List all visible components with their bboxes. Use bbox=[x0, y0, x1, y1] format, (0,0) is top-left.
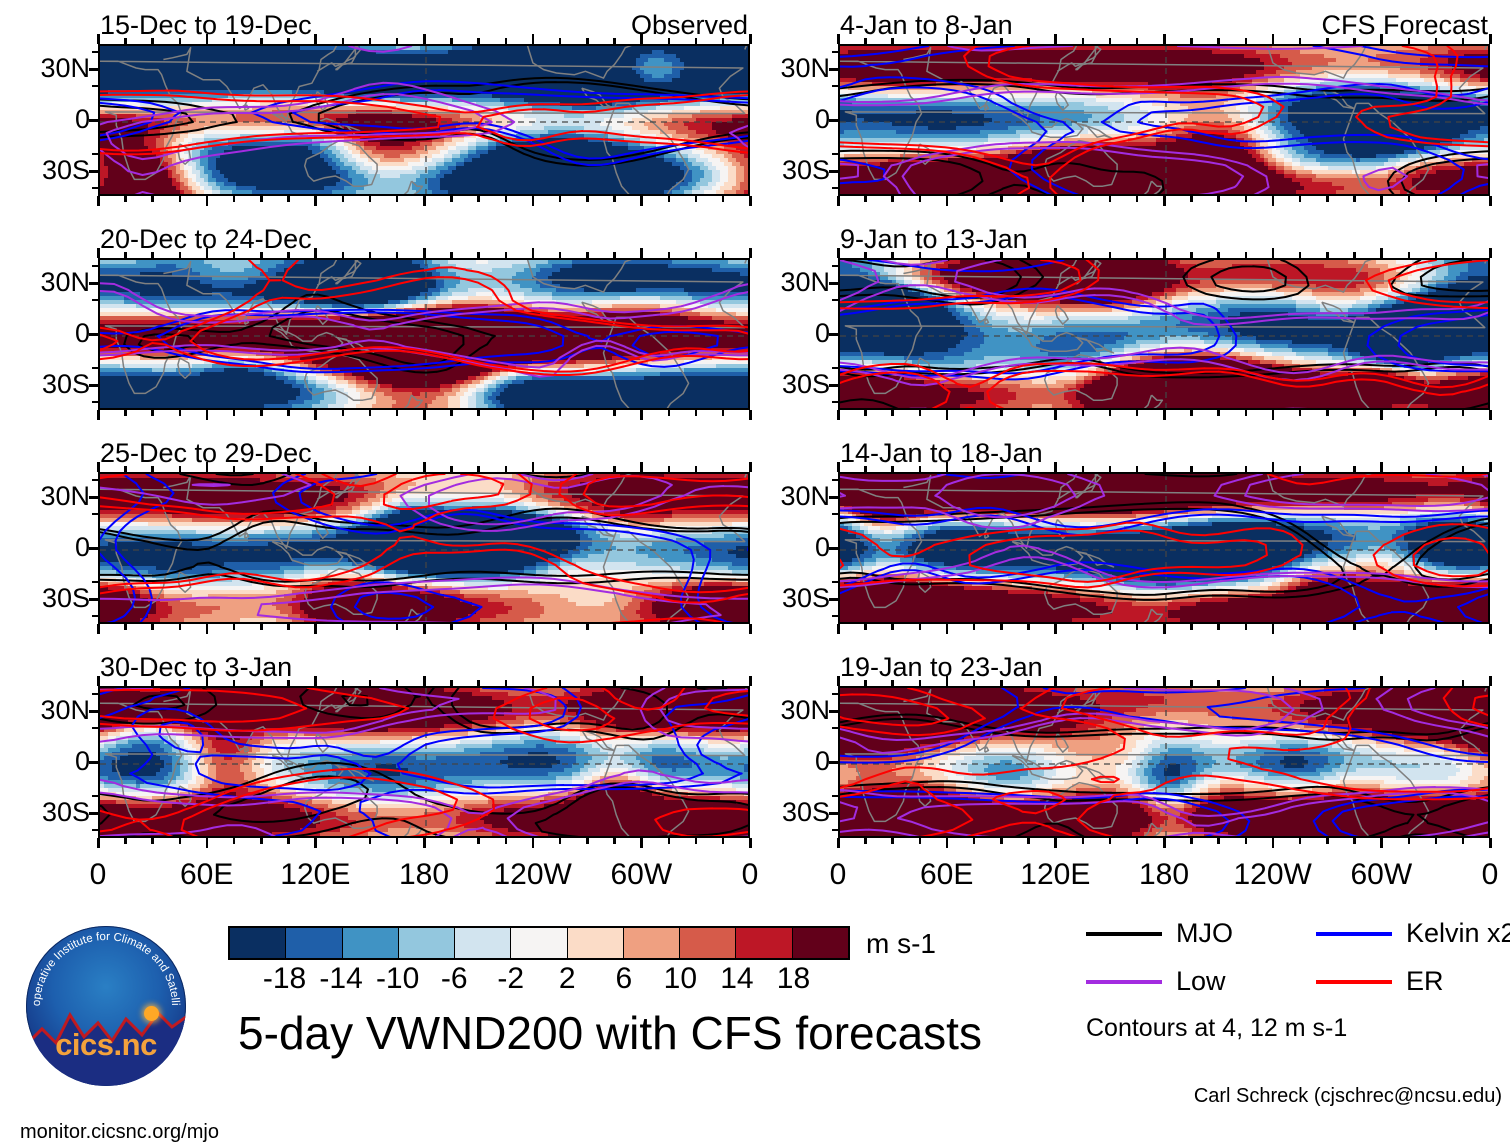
x-axis-tick-mark bbox=[973, 252, 976, 258]
x-axis-tick-mark bbox=[1027, 466, 1030, 472]
x-axis-tick-label: 120W bbox=[493, 860, 571, 890]
x-axis-tick-mark bbox=[640, 196, 643, 206]
x-axis-tick-mark bbox=[206, 676, 209, 686]
x-axis-tick-mark bbox=[260, 38, 263, 44]
x-axis-tick-mark bbox=[1082, 838, 1085, 844]
x-axis-tick-mark bbox=[396, 38, 399, 44]
y-axis-tick-mark bbox=[89, 496, 100, 499]
x-axis-tick-mark bbox=[1435, 624, 1438, 630]
x-axis-tick-mark bbox=[1082, 252, 1085, 258]
y-axis-minor-tick bbox=[92, 795, 99, 797]
x-axis-tick-label: 120W bbox=[1233, 860, 1311, 890]
x-axis-tick-mark bbox=[1163, 410, 1166, 420]
x-axis-tick-mark bbox=[1245, 680, 1248, 686]
x-axis-tick-mark bbox=[505, 624, 508, 630]
x-axis-tick-mark bbox=[477, 838, 480, 844]
x-axis-tick-mark bbox=[1000, 196, 1003, 202]
y-axis-minor-tick bbox=[92, 367, 99, 369]
map-plot-area bbox=[98, 258, 750, 410]
x-axis-tick-mark bbox=[1082, 38, 1085, 44]
y-axis-tick-mark bbox=[829, 68, 840, 71]
legend-label: ER bbox=[1406, 968, 1444, 995]
y-axis-minor-tick bbox=[832, 85, 839, 87]
x-axis-tick-mark bbox=[695, 38, 698, 44]
map-plot-area bbox=[98, 472, 750, 624]
x-axis-tick-mark bbox=[233, 838, 236, 844]
x-axis-tick-mark bbox=[1054, 624, 1057, 634]
x-axis-tick-mark bbox=[1163, 624, 1166, 634]
x-axis-tick-mark bbox=[1163, 248, 1166, 258]
x-axis-tick-label: 120E bbox=[1020, 860, 1090, 890]
x-axis-tick-mark bbox=[1462, 624, 1465, 630]
x-axis-tick-mark bbox=[1054, 196, 1057, 206]
x-axis-tick-mark bbox=[1435, 466, 1438, 472]
x-axis-tick-mark bbox=[864, 410, 867, 416]
x-axis-tick-mark bbox=[287, 838, 290, 844]
x-axis-tick-mark bbox=[668, 624, 671, 630]
x-axis-tick-mark bbox=[586, 196, 589, 202]
x-axis-tick-mark bbox=[1245, 38, 1248, 44]
y-axis-tick-label: 30S bbox=[746, 799, 830, 826]
x-axis-tick-mark bbox=[233, 410, 236, 416]
x-axis-tick-mark bbox=[1136, 466, 1139, 472]
x-axis-tick-mark bbox=[946, 676, 949, 686]
x-axis-tick-mark bbox=[1109, 466, 1112, 472]
y-axis-minor-tick bbox=[92, 693, 99, 695]
x-axis-tick-mark bbox=[1109, 410, 1112, 416]
legend-swatch bbox=[1316, 932, 1392, 936]
y-axis-tick-label: 0 bbox=[6, 534, 90, 561]
x-axis-tick-mark bbox=[1462, 466, 1465, 472]
x-axis-tick-mark bbox=[613, 838, 616, 844]
x-axis-tick-mark bbox=[505, 196, 508, 202]
x-axis-tick-mark bbox=[179, 196, 182, 202]
x-axis-tick-mark bbox=[1435, 38, 1438, 44]
x-axis-tick-mark bbox=[1272, 676, 1275, 686]
y-axis-tick-mark bbox=[829, 710, 840, 713]
x-axis-tick-mark bbox=[973, 38, 976, 44]
panel-title: 14-Jan to 18-Jan bbox=[840, 440, 1043, 467]
x-axis-tick-mark bbox=[973, 624, 976, 630]
panel-title: 4-Jan to 8-Jan bbox=[840, 12, 1013, 39]
x-axis-tick-mark bbox=[1163, 34, 1166, 44]
x-axis-tick-mark bbox=[864, 838, 867, 844]
x-axis-tick-mark bbox=[450, 838, 453, 844]
contour-note: Contours at 4, 12 m s-1 bbox=[1086, 1016, 1347, 1041]
x-axis-tick-mark bbox=[124, 252, 127, 258]
column-header-cfs-forecast: CFS Forecast bbox=[1321, 12, 1488, 39]
y-axis-tick-label: 30S bbox=[6, 585, 90, 612]
x-axis-tick-mark bbox=[1380, 838, 1383, 848]
y-axis-minor-tick bbox=[832, 615, 839, 617]
x-axis-tick-mark bbox=[1435, 252, 1438, 258]
x-axis-tick-mark bbox=[97, 196, 100, 206]
x-axis-tick-mark bbox=[1054, 410, 1057, 420]
x-axis-tick-mark bbox=[749, 462, 752, 472]
x-axis-tick-mark bbox=[151, 410, 154, 416]
x-axis-tick-mark bbox=[946, 248, 949, 258]
x-axis-tick-mark bbox=[179, 838, 182, 844]
x-axis-tick-mark bbox=[260, 680, 263, 686]
colorbar-tick-14: 14 bbox=[720, 964, 753, 994]
x-axis-tick-mark bbox=[1353, 410, 1356, 416]
x-axis-tick-mark bbox=[287, 624, 290, 630]
x-axis-tick-mark bbox=[260, 838, 263, 844]
x-axis-tick-mark bbox=[287, 196, 290, 202]
x-axis-tick-mark bbox=[1245, 252, 1248, 258]
x-axis-tick-mark bbox=[1109, 196, 1112, 202]
y-axis-tick-label: 30S bbox=[6, 799, 90, 826]
x-axis-tick-mark bbox=[342, 38, 345, 44]
x-axis-tick-mark bbox=[1435, 196, 1438, 202]
x-axis-tick-mark bbox=[233, 252, 236, 258]
x-axis-tick-mark bbox=[1408, 838, 1411, 844]
x-axis-tick-mark bbox=[450, 252, 453, 258]
y-axis-tick-mark bbox=[89, 710, 100, 713]
y-axis-tick-label: 30S bbox=[746, 157, 830, 184]
x-axis-tick-mark bbox=[1272, 248, 1275, 258]
x-axis-tick-mark bbox=[559, 624, 562, 630]
x-axis-tick-label: 60E bbox=[180, 860, 233, 890]
panel-title: 30-Dec to 3-Jan bbox=[100, 654, 292, 681]
map-field bbox=[840, 474, 1490, 624]
y-axis-tick-label: 30S bbox=[746, 371, 830, 398]
colorbar bbox=[228, 926, 850, 960]
x-axis-tick-mark bbox=[179, 410, 182, 416]
map-field bbox=[100, 688, 750, 838]
y-axis-minor-tick bbox=[832, 693, 839, 695]
x-axis-tick-mark bbox=[342, 466, 345, 472]
y-axis-minor-tick bbox=[832, 795, 839, 797]
x-axis-tick-mark bbox=[1054, 34, 1057, 44]
colorbar-tick-18: 18 bbox=[777, 964, 810, 994]
x-axis-tick-mark bbox=[919, 624, 922, 630]
x-axis-tick-mark bbox=[1353, 624, 1356, 630]
x-axis-tick-mark bbox=[749, 410, 752, 420]
x-axis-tick-mark bbox=[151, 838, 154, 844]
x-axis-tick-mark bbox=[179, 466, 182, 472]
y-axis-tick-label: 30S bbox=[6, 371, 90, 398]
x-axis-tick-mark bbox=[559, 252, 562, 258]
y-axis-tick-label: 0 bbox=[6, 748, 90, 775]
x-axis-tick-mark bbox=[1136, 38, 1139, 44]
y-axis-tick-mark bbox=[89, 119, 100, 122]
y-axis-minor-tick bbox=[92, 479, 99, 481]
x-axis-tick-mark bbox=[423, 838, 426, 848]
x-axis-tick-mark bbox=[1136, 838, 1139, 844]
y-axis-tick-label: 0 bbox=[6, 320, 90, 347]
x-axis-tick-mark bbox=[1082, 196, 1085, 202]
panel-grid: 15-Dec to 19-DecObserved30N030S20-Dec to… bbox=[0, 0, 1510, 890]
x-axis-tick-mark bbox=[1190, 466, 1193, 472]
map-field bbox=[100, 46, 750, 196]
x-axis-tick-mark bbox=[423, 34, 426, 44]
x-axis-tick-mark bbox=[695, 624, 698, 630]
x-axis-tick-mark bbox=[1000, 38, 1003, 44]
x-axis-tick-mark bbox=[1408, 252, 1411, 258]
x-axis-tick-mark bbox=[314, 196, 317, 206]
x-axis-tick-mark bbox=[946, 34, 949, 44]
x-axis-tick-mark bbox=[1245, 196, 1248, 202]
x-axis-tick-mark bbox=[396, 680, 399, 686]
x-axis-tick-mark bbox=[891, 624, 894, 630]
legend-label: Kelvin x2 bbox=[1406, 920, 1510, 947]
x-axis-tick-mark bbox=[423, 196, 426, 206]
column-header-observed: Observed bbox=[631, 12, 748, 39]
x-axis-tick-mark bbox=[477, 680, 480, 686]
x-axis-tick-mark bbox=[206, 410, 209, 420]
y-axis-minor-tick bbox=[92, 265, 99, 267]
x-axis-tick-mark bbox=[287, 38, 290, 44]
x-axis-tick-mark bbox=[233, 624, 236, 630]
y-axis-tick-mark bbox=[829, 761, 840, 764]
x-axis-tick-label: 180 bbox=[1139, 860, 1189, 890]
x-axis-tick-mark bbox=[973, 466, 976, 472]
x-axis-tick-mark bbox=[559, 196, 562, 202]
x-axis-tick-mark bbox=[919, 38, 922, 44]
x-axis-tick-mark bbox=[946, 624, 949, 634]
x-axis-tick-mark bbox=[314, 624, 317, 634]
x-axis-tick-mark bbox=[179, 252, 182, 258]
map-plot-area bbox=[838, 472, 1490, 624]
x-axis-tick-mark bbox=[946, 838, 949, 848]
legend-swatch bbox=[1316, 980, 1392, 984]
y-axis-minor-tick bbox=[832, 401, 839, 403]
x-axis-tick-mark bbox=[314, 676, 317, 686]
x-axis-tick-mark bbox=[640, 410, 643, 420]
x-axis-tick-mark bbox=[1190, 252, 1193, 258]
y-axis-minor-tick bbox=[832, 829, 839, 831]
x-axis-tick-mark bbox=[369, 624, 372, 630]
y-axis-tick-mark bbox=[829, 333, 840, 336]
x-axis-tick-mark bbox=[1054, 248, 1057, 258]
x-axis-tick-mark bbox=[260, 466, 263, 472]
x-axis-tick-mark bbox=[1299, 624, 1302, 630]
x-axis-tick-mark bbox=[260, 196, 263, 202]
y-axis-minor-tick bbox=[832, 479, 839, 481]
x-axis-tick-mark bbox=[613, 38, 616, 44]
y-axis-tick-label: 0 bbox=[746, 534, 830, 561]
x-axis-tick-mark bbox=[1380, 196, 1383, 206]
x-axis-tick-mark bbox=[1217, 466, 1220, 472]
x-axis-tick-mark bbox=[1163, 196, 1166, 206]
y-axis-minor-tick bbox=[832, 187, 839, 189]
x-axis-tick-mark bbox=[1408, 38, 1411, 44]
y-axis-minor-tick bbox=[832, 513, 839, 515]
colorbar-tick--14: -14 bbox=[319, 964, 362, 994]
y-axis-minor-tick bbox=[92, 299, 99, 301]
x-axis-tick-mark bbox=[1000, 624, 1003, 630]
x-axis-tick-label: 0 bbox=[1482, 860, 1499, 890]
contour-legend: MJOKelvin x2LowER bbox=[1086, 920, 1498, 1010]
x-axis-tick-mark bbox=[1353, 680, 1356, 686]
y-axis-tick-mark bbox=[829, 598, 840, 601]
x-axis-tick-mark bbox=[1163, 838, 1166, 848]
x-axis-tick-mark bbox=[179, 38, 182, 44]
y-axis-tick-label: 30N bbox=[746, 697, 830, 724]
x-axis-tick-mark bbox=[532, 838, 535, 848]
x-axis-tick-mark bbox=[369, 410, 372, 416]
x-axis-tick-mark bbox=[450, 410, 453, 416]
x-axis-tick-mark bbox=[1299, 252, 1302, 258]
y-axis-minor-tick bbox=[92, 727, 99, 729]
x-axis-tick-mark bbox=[1245, 466, 1248, 472]
x-axis-tick-mark bbox=[97, 462, 100, 472]
x-axis-tick-mark bbox=[1217, 38, 1220, 44]
x-axis-tick-mark bbox=[1000, 466, 1003, 472]
x-axis-tick-mark bbox=[532, 248, 535, 258]
y-axis-minor-tick bbox=[832, 153, 839, 155]
x-axis-tick-mark bbox=[505, 466, 508, 472]
x-axis-tick-label: 60E bbox=[920, 860, 973, 890]
map-field bbox=[100, 474, 750, 624]
map-field bbox=[840, 46, 1490, 196]
x-axis-tick-mark bbox=[1136, 410, 1139, 416]
x-axis-tick-mark bbox=[1190, 680, 1193, 686]
y-axis-minor-tick bbox=[832, 581, 839, 583]
x-axis-tick-mark bbox=[97, 838, 100, 848]
x-axis-tick-mark bbox=[1380, 248, 1383, 258]
x-axis-tick-mark bbox=[695, 196, 698, 202]
y-axis-tick-label: 0 bbox=[6, 106, 90, 133]
x-axis-tick-mark bbox=[1489, 410, 1492, 420]
x-axis-tick-mark bbox=[837, 838, 840, 848]
colorbar-swatches bbox=[228, 926, 850, 960]
x-axis-tick-mark bbox=[891, 196, 894, 202]
x-axis-tick-label: 60W bbox=[610, 860, 672, 890]
x-axis-tick-mark bbox=[1408, 196, 1411, 202]
legend-item-low: Low bbox=[1086, 968, 1226, 995]
x-axis-tick-mark bbox=[97, 410, 100, 420]
x-axis-tick-mark bbox=[640, 676, 643, 686]
x-axis-tick-mark bbox=[586, 680, 589, 686]
x-axis-tick-mark bbox=[1027, 38, 1030, 44]
x-axis-tick-mark bbox=[450, 680, 453, 686]
x-axis-tick-mark bbox=[1435, 410, 1438, 416]
x-axis-tick-mark bbox=[124, 196, 127, 202]
x-axis-tick-mark bbox=[695, 410, 698, 416]
x-axis-tick-mark bbox=[640, 624, 643, 634]
x-axis-tick-mark bbox=[1054, 676, 1057, 686]
x-axis-tick-mark bbox=[1435, 838, 1438, 844]
legend-label: MJO bbox=[1176, 920, 1233, 947]
x-axis-tick-mark bbox=[1109, 838, 1112, 844]
x-axis-tick-mark bbox=[396, 410, 399, 416]
x-axis-tick-mark bbox=[1190, 38, 1193, 44]
x-axis-tick-mark bbox=[1353, 38, 1356, 44]
x-axis-tick-mark bbox=[749, 34, 752, 44]
x-axis-tick-mark bbox=[1000, 252, 1003, 258]
x-axis-tick-mark bbox=[233, 680, 236, 686]
x-axis-tick-mark bbox=[1136, 252, 1139, 258]
y-axis-tick-label: 30N bbox=[6, 697, 90, 724]
x-axis-tick-mark bbox=[837, 624, 840, 634]
x-axis-tick-mark bbox=[640, 838, 643, 848]
x-axis-tick-mark bbox=[1245, 624, 1248, 630]
x-axis-tick-mark bbox=[1109, 252, 1112, 258]
y-axis-tick-mark bbox=[89, 333, 100, 336]
x-axis-tick-mark bbox=[891, 680, 894, 686]
x-axis-tick-mark bbox=[206, 248, 209, 258]
legend-label: Low bbox=[1176, 968, 1226, 995]
x-axis-tick-mark bbox=[1462, 252, 1465, 258]
colorbar-cell-6 bbox=[568, 928, 624, 958]
x-axis-tick-mark bbox=[695, 680, 698, 686]
x-axis-tick-mark bbox=[532, 410, 535, 420]
map-plot-area bbox=[838, 258, 1490, 410]
y-axis-tick-label: 0 bbox=[746, 320, 830, 347]
y-axis-tick-label: 30N bbox=[6, 55, 90, 82]
panel-title: 19-Jan to 23-Jan bbox=[840, 654, 1043, 681]
x-axis-tick-mark bbox=[477, 252, 480, 258]
x-axis-tick-mark bbox=[586, 624, 589, 630]
panel-title: 9-Jan to 13-Jan bbox=[840, 226, 1028, 253]
x-axis-tick-mark bbox=[1027, 838, 1030, 844]
x-axis-tick-mark bbox=[640, 34, 643, 44]
x-axis-tick-mark bbox=[314, 34, 317, 44]
y-axis-minor-tick bbox=[92, 829, 99, 831]
x-axis-tick-mark bbox=[477, 38, 480, 44]
x-axis-tick-mark bbox=[1136, 624, 1139, 630]
x-axis-tick-mark bbox=[749, 676, 752, 686]
legend-item-er: ER bbox=[1316, 968, 1444, 995]
legend-item-kelvin-x2: Kelvin x2 bbox=[1316, 920, 1510, 947]
y-axis-minor-tick bbox=[92, 51, 99, 53]
y-axis-tick-mark bbox=[829, 496, 840, 499]
y-axis-tick-mark bbox=[829, 384, 840, 387]
x-axis-tick-mark bbox=[1217, 680, 1220, 686]
x-axis-tick-mark bbox=[1217, 624, 1220, 630]
x-axis-tick-mark bbox=[891, 838, 894, 844]
y-axis-tick-label: 0 bbox=[746, 748, 830, 775]
y-axis-tick-label: 30N bbox=[6, 483, 90, 510]
x-axis-tick-mark bbox=[97, 624, 100, 634]
y-axis-tick-mark bbox=[89, 170, 100, 173]
y-axis-tick-mark bbox=[89, 282, 100, 285]
x-axis-tick-mark bbox=[1489, 196, 1492, 206]
site-url: monitor.cicsnc.org/mjo bbox=[20, 1122, 219, 1142]
x-axis-tick-mark bbox=[1380, 34, 1383, 44]
x-axis-tick-mark bbox=[1353, 252, 1356, 258]
x-axis-tick-mark bbox=[477, 466, 480, 472]
x-axis-tick-mark bbox=[1353, 838, 1356, 844]
x-axis-tick-mark bbox=[1489, 676, 1492, 686]
x-axis-tick-mark bbox=[396, 624, 399, 630]
colorbar-cell-10 bbox=[793, 928, 848, 958]
x-axis-tick-mark bbox=[1380, 624, 1383, 634]
y-axis-tick-label: 30N bbox=[746, 269, 830, 296]
x-axis-tick-mark bbox=[722, 196, 725, 202]
x-axis-tick-mark bbox=[586, 838, 589, 844]
x-axis-tick-mark bbox=[505, 838, 508, 844]
x-axis-tick-mark bbox=[1082, 410, 1085, 416]
x-axis-tick-mark bbox=[1217, 410, 1220, 416]
map-plot-area bbox=[98, 686, 750, 838]
x-axis-tick-mark bbox=[369, 466, 372, 472]
x-axis-tick-mark bbox=[450, 466, 453, 472]
x-axis-tick-mark bbox=[1326, 838, 1329, 844]
x-axis-tick-mark bbox=[532, 624, 535, 634]
colorbar-tick--6: -6 bbox=[441, 964, 468, 994]
x-axis-tick-mark bbox=[1489, 248, 1492, 258]
x-axis-tick-mark bbox=[124, 838, 127, 844]
colorbar-cell-8 bbox=[680, 928, 736, 958]
colorbar-cell-0 bbox=[230, 928, 286, 958]
x-axis-tick-mark bbox=[640, 462, 643, 472]
x-axis-tick-mark bbox=[837, 248, 840, 258]
x-axis-tick-mark bbox=[1299, 838, 1302, 844]
x-axis-tick-mark bbox=[668, 196, 671, 202]
